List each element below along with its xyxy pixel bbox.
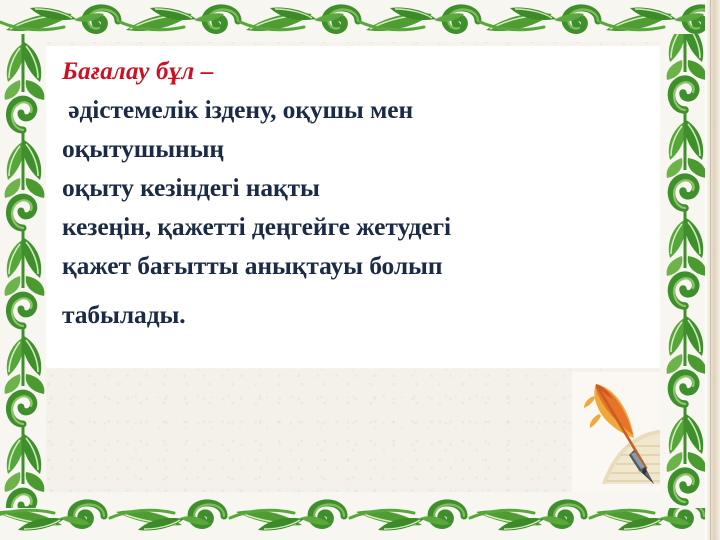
body-line-2: оқытушының	[62, 129, 648, 168]
floral-vine-border-left-icon	[0, 34, 46, 508]
floral-vine-border-right-icon	[660, 34, 710, 508]
floral-vine-border-bottom-icon	[0, 492, 720, 540]
body-line-6: табылады.	[62, 295, 648, 334]
body-line-4: кезеңін, қажетті деңгейге жетудегі	[62, 207, 648, 246]
body-line-1: әдістемелік іздену, оқушы мен	[62, 90, 648, 129]
slide-canvas: Бағалау бұл – әдістемелік іздену, оқушы …	[0, 0, 720, 540]
slide-text-block: Бағалау бұл – әдістемелік іздену, оқушы …	[62, 54, 648, 334]
text-content-card: Бағалау бұл – әдістемелік іздену, оқушы …	[42, 46, 660, 368]
slide-title-line: Бағалау бұл –	[62, 54, 648, 90]
floral-vine-border-top-icon	[0, 0, 720, 42]
right-edge-strip	[705, 0, 720, 540]
body-line-5: қажет бағытты анықтауы болып	[62, 246, 648, 285]
body-line-3: оқыту кезіндегі нақты	[62, 168, 648, 207]
